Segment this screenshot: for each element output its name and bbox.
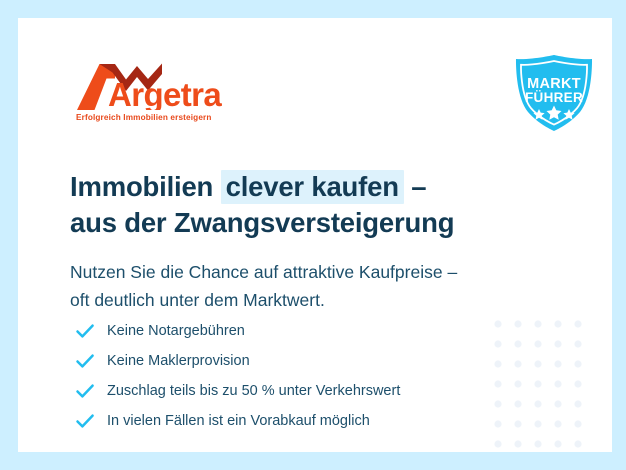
argetra-roof-mark-icon: Argetra — [74, 62, 252, 110]
check-icon — [74, 320, 96, 342]
check-icon — [74, 350, 96, 372]
headline-text-before: Immobilien — [70, 171, 221, 202]
subheadline-line-2: oft deutlich unter dem Marktwert. — [70, 286, 570, 314]
logo-tagline: Erfolgreich Immobilien ersteigern — [76, 113, 212, 122]
headline: Immobilien clever kaufen – aus der Zwang… — [70, 169, 540, 241]
svg-text:Argetra: Argetra — [108, 76, 222, 110]
list-item-label: In vielen Fällen ist ein Vorabkauf mögli… — [107, 412, 370, 430]
subheadline: Nutzen Sie die Chance auf attraktive Kau… — [70, 258, 570, 314]
list-item: Keine Maklerprovision — [74, 346, 544, 376]
list-item-label: Keine Maklerprovision — [107, 352, 250, 370]
list-item: In vielen Fällen ist ein Vorabkauf mögli… — [74, 406, 544, 436]
headline-highlight: clever kaufen — [221, 170, 404, 204]
headline-line-1: Immobilien clever kaufen – — [70, 169, 540, 205]
banner-card: Argetra Erfolgreich Immobilien ersteiger… — [18, 18, 612, 452]
headline-text-after: – — [404, 171, 427, 202]
list-item-label: Keine Notargebühren — [107, 322, 245, 340]
promo-banner: Argetra Erfolgreich Immobilien ersteiger… — [0, 0, 626, 470]
benefits-checklist: Keine Notargebühren Keine Maklerprovisio… — [74, 316, 544, 436]
shield-badge-icon: MARKT FÜHRER — [508, 52, 600, 134]
check-icon — [74, 380, 96, 402]
check-icon — [74, 410, 96, 432]
list-item: Zuschlag teils bis zu 50 % unter Verkehr… — [74, 376, 544, 406]
subheadline-line-1: Nutzen Sie die Chance auf attraktive Kau… — [70, 258, 570, 286]
list-item: Keine Notargebühren — [74, 316, 544, 346]
headline-line-2: aus der Zwangsversteigerung — [70, 205, 540, 241]
argetra-logo[interactable]: Argetra Erfolgreich Immobilien ersteiger… — [74, 62, 254, 124]
list-item-label: Zuschlag teils bis zu 50 % unter Verkehr… — [107, 382, 400, 400]
svg-text:FÜHRER: FÜHRER — [525, 90, 583, 105]
